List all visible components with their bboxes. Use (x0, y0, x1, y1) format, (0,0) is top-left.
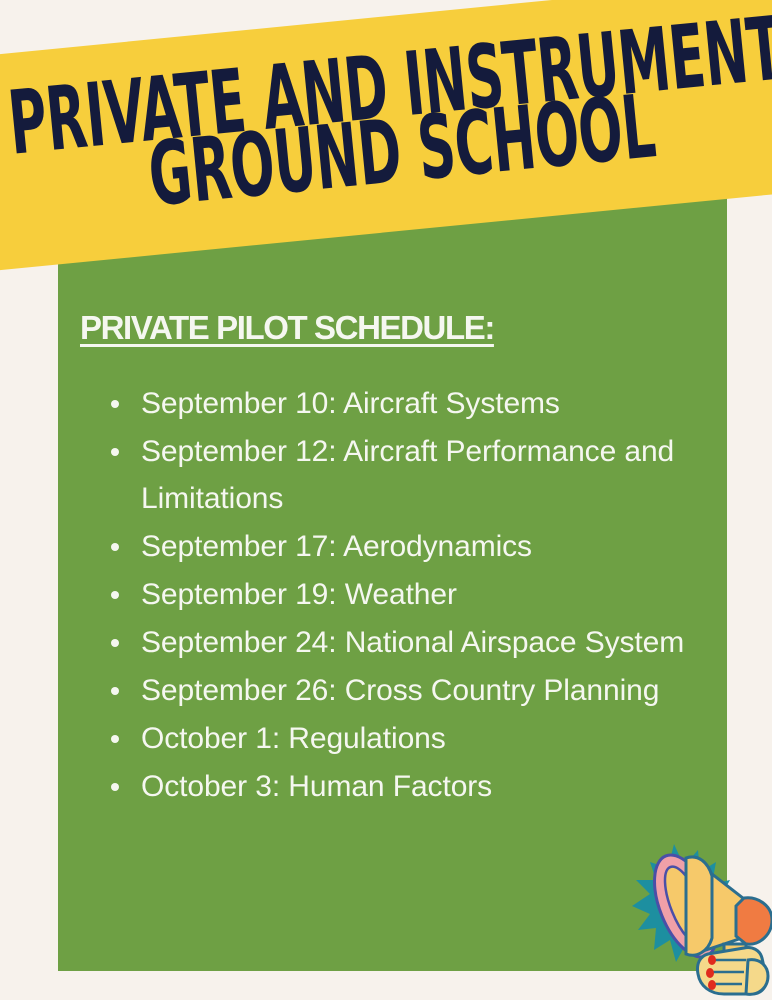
hand (697, 947, 768, 994)
list-item-label: October 3: Human Factors (141, 770, 492, 803)
sleeve (736, 898, 772, 944)
list-item: September 17: Aerodynamics (105, 523, 685, 570)
list-item-label: September 10: Aircraft Systems (141, 387, 560, 420)
poster-canvas: PRIVATE AND INSTRUMENT GROUND SCHOOL PRI… (0, 0, 772, 1000)
bullet-icon (111, 735, 119, 743)
list-item: October 1: Regulations (105, 715, 685, 762)
bullet-icon (111, 400, 119, 408)
list-item-label: September 26: Cross Country Planning (141, 674, 659, 707)
schedule-heading: PRIVATE PILOT SCHEDULE: (80, 309, 494, 347)
megaphone-icon (612, 832, 772, 1000)
bullet-icon (111, 687, 119, 695)
list-item: September 10: Aircraft Systems (105, 380, 685, 427)
list-item: October 3: Human Factors (105, 763, 685, 810)
bullet-icon (111, 591, 119, 599)
list-item-label: October 1: Regulations (141, 722, 446, 755)
list-item: September 26: Cross Country Planning (105, 667, 685, 714)
bullet-icon (111, 448, 119, 456)
list-item: September 24: National Airspace System (105, 619, 685, 666)
schedule-list: September 10: Aircraft Systems September… (105, 380, 685, 811)
list-item-label: September 19: Weather (141, 578, 457, 611)
bullet-icon (111, 783, 119, 791)
list-item-label: September 17: Aerodynamics (141, 530, 532, 563)
bullet-icon (111, 543, 119, 551)
list-item-label: September 24: National Airspace System (141, 626, 684, 659)
list-item-label: September 12: Aircraft Performance and L… (141, 435, 674, 515)
bullet-icon (111, 639, 119, 647)
list-item: September 12: Aircraft Performance and L… (105, 428, 685, 522)
list-item: September 19: Weather (105, 571, 685, 618)
